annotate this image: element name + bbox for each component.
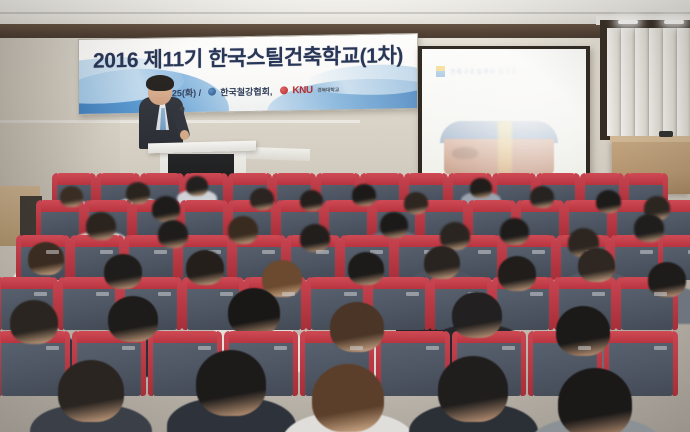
attendee-head (530, 186, 554, 208)
blind-slat (607, 28, 621, 136)
attendee-head (300, 224, 330, 252)
seat-number-tag (282, 292, 295, 296)
auditorium-seat (380, 336, 446, 396)
banner-partner-name: 경북대학교 (317, 86, 339, 93)
knu-logo-icon (280, 86, 288, 94)
auditorium-seat (328, 205, 368, 239)
seat-number-tag (34, 292, 47, 296)
seat-number-tag (532, 250, 545, 254)
seat-number-tag (426, 346, 439, 350)
auditorium-seat (184, 205, 224, 239)
seat-number-tag (100, 250, 113, 254)
attendee-head (228, 288, 280, 336)
side-counter-top (610, 136, 690, 142)
seat-number-tag (530, 292, 543, 296)
attendee-head (60, 186, 83, 207)
projection-screen-frame: 건축구조설계와 강구조 (418, 46, 590, 188)
seat-number-tag (654, 292, 667, 296)
attendee-head (86, 212, 116, 240)
attendee-head (348, 252, 384, 285)
seat-side-rail (673, 331, 678, 396)
attendee-head (634, 214, 664, 242)
seat-number-tag (154, 250, 167, 254)
blind-slat (677, 28, 690, 136)
attendee-head (104, 254, 142, 289)
window-glass (607, 28, 690, 136)
seat-number-tag (198, 346, 211, 350)
attendee-head (250, 188, 274, 210)
projection-screen: 건축구조설계와 강구조 (422, 49, 586, 185)
attendee-head (228, 216, 258, 244)
ksa-logo-icon (208, 88, 216, 96)
seat-number-tag (96, 292, 109, 296)
attendee-head (196, 350, 266, 416)
attendee-head (10, 300, 58, 344)
ceiling-light (664, 20, 684, 24)
seat-number-tag (262, 250, 275, 254)
blind-slat (621, 28, 635, 136)
attendee-head (470, 178, 492, 198)
attendee-head (404, 192, 428, 214)
seat-number-tag (478, 250, 491, 254)
attendee-head (186, 250, 224, 285)
blind-slat (649, 28, 663, 136)
window-frame (600, 20, 690, 140)
screen-glare (422, 49, 586, 185)
counter-device (659, 131, 673, 137)
lecture-hall-photo: 2016 제11기 한국스틸건축학교(1차) .10.25(화) / 한국철강협… (0, 0, 690, 432)
seat-number-tag (502, 346, 515, 350)
attendee-head (312, 364, 384, 432)
attendee-head (596, 190, 621, 213)
attendee-head (28, 242, 64, 275)
seat-number-tag (220, 292, 233, 296)
seat-number-tag (592, 292, 605, 296)
attendee-head (126, 182, 150, 204)
attendee-head (424, 246, 460, 279)
blind-slat (635, 28, 649, 136)
seat-number-tag (46, 250, 59, 254)
attendee-head (498, 256, 536, 291)
attendee-head (452, 292, 502, 338)
banner-partner-abbrev: KNU (292, 85, 312, 96)
banner-title: 2016 제11기 한국스틸건축학교(1차) (79, 39, 417, 75)
auditorium-seat (40, 205, 80, 239)
seat-number-tag (316, 250, 329, 254)
banner-host: 한국철강협회, (220, 85, 272, 99)
ceiling-light (618, 20, 638, 24)
auditorium-seat (0, 336, 66, 396)
event-banner: 2016 제11기 한국스틸건축학교(1차) .10.25(화) / 한국철강협… (78, 33, 418, 115)
attendee-head (500, 218, 529, 245)
seat-number-tag (406, 292, 419, 296)
seat-number-tag (578, 346, 591, 350)
seat-side-rail (293, 331, 298, 396)
seat-number-tag (122, 346, 135, 350)
attendee-head (152, 196, 180, 222)
attendee-head (578, 248, 615, 282)
seat-number-tag (350, 346, 363, 350)
attendee-head (108, 296, 158, 342)
attendee-head (438, 356, 508, 422)
ceiling-seam (0, 12, 690, 14)
seat-number-tag (654, 346, 667, 350)
seat-number-tag (46, 346, 59, 350)
seat-number-tag (274, 346, 287, 350)
attendee-head (558, 368, 632, 432)
seat-number-tag (344, 292, 357, 296)
seat-number-tag (640, 250, 653, 254)
speaker-hand (180, 130, 189, 140)
seat-side-rail (521, 331, 526, 396)
attendee-head (330, 302, 384, 352)
attendee-head (380, 212, 408, 238)
attendee-head (58, 360, 124, 422)
seat-number-tag (158, 292, 171, 296)
attendee-head (186, 176, 208, 196)
speaker-hair (146, 75, 174, 91)
attendee-head (352, 184, 376, 206)
blind-slat (663, 28, 677, 136)
attendee-head (300, 190, 323, 211)
attendee-head (158, 220, 188, 248)
